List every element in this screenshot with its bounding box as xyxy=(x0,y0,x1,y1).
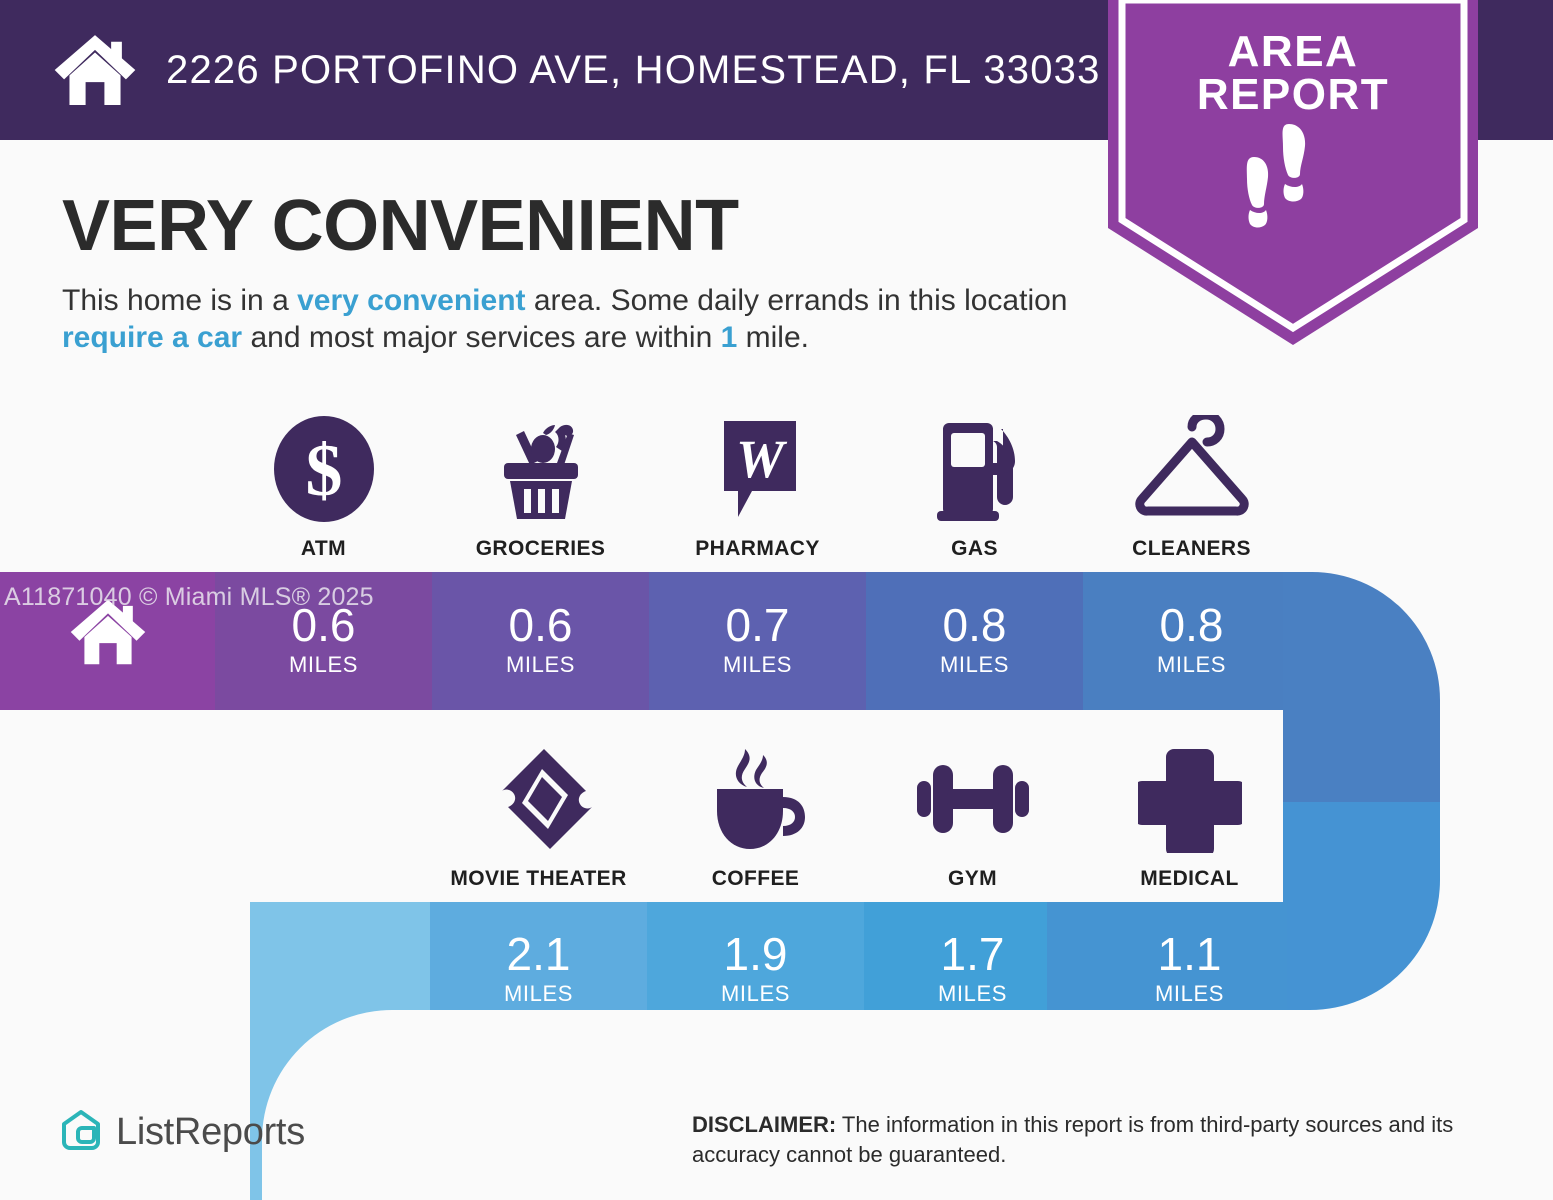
amenity-row-2: MOVIE THEATER COFFEE xyxy=(430,745,1298,891)
listreports-logo: ListReports xyxy=(58,1108,305,1156)
distance-cell: 2.1 MILES xyxy=(430,925,647,1007)
disclaimer: DISCLAIMER: The information in this repo… xyxy=(692,1110,1492,1169)
distance-value: 1.9 xyxy=(647,931,864,977)
distance-value: 0.6 xyxy=(432,602,649,648)
mls-watermark: A11871040 © Miami MLS® 2025 xyxy=(4,583,374,612)
distance-value: 1.1 xyxy=(1081,931,1298,977)
listreports-logo-icon xyxy=(58,1108,104,1156)
distance-cell: 0.8 MILES xyxy=(1083,596,1300,678)
amenity-label: COFFEE xyxy=(712,867,800,891)
distance-unit: MILES xyxy=(430,981,647,1007)
svg-text:W: W xyxy=(735,429,787,489)
amenity-row-1: $ ATM GROCERIES xyxy=(215,415,1300,561)
coffee-cup-icon xyxy=(701,745,811,853)
grocery-basket-icon xyxy=(486,415,596,523)
logo-text: ListReports xyxy=(116,1111,305,1154)
distance-unit: MILES xyxy=(866,652,1083,678)
distance-unit: MILES xyxy=(432,652,649,678)
distance-unit: MILES xyxy=(215,652,432,678)
distance-unit: MILES xyxy=(1081,981,1298,1007)
pharmacy-w-icon: W xyxy=(710,415,806,523)
amenity-atm: $ ATM xyxy=(215,415,432,561)
badge-label: AREA REPORT xyxy=(1108,30,1478,116)
amenity-coffee: COFFEE xyxy=(647,745,864,891)
distance-unit: MILES xyxy=(649,652,866,678)
amenity-pharmacy: W PHARMACY xyxy=(649,415,866,561)
clothes-hanger-icon xyxy=(1128,415,1256,523)
amenity-label: MOVIE THEATER xyxy=(450,867,626,891)
badge-line-2: REPORT xyxy=(1108,73,1478,116)
movie-ticket-icon xyxy=(486,745,592,853)
distance-unit: MILES xyxy=(1083,652,1300,678)
distance-cell: 0.7 MILES xyxy=(649,596,866,678)
distance-value: 2.1 xyxy=(430,931,647,977)
disclaimer-label: DISCLAIMER: xyxy=(692,1112,836,1137)
distance-cell: 1.7 MILES xyxy=(864,925,1081,1007)
distance-value: 1.7 xyxy=(864,931,1081,977)
amenity-label: ATM xyxy=(301,537,346,561)
dumbbell-icon xyxy=(909,745,1037,853)
amenity-groceries: GROCERIES xyxy=(432,415,649,561)
svg-text:$: $ xyxy=(305,430,342,512)
amenity-label: PHARMACY xyxy=(695,537,820,561)
area-report-badge: AREA REPORT xyxy=(1108,0,1478,345)
amenity-label: CLEANERS xyxy=(1132,537,1251,561)
distance-cell: 1.9 MILES xyxy=(647,925,864,1007)
distance-unit: MILES xyxy=(864,981,1081,1007)
medical-cross-icon xyxy=(1138,745,1242,853)
distance-unit: MILES xyxy=(647,981,864,1007)
distance-row-1: 0.6 MILES 0.6 MILES 0.7 MILES 0.8 MILES … xyxy=(215,596,1300,678)
distance-cell: 0.6 MILES xyxy=(432,596,649,678)
amenity-gym: GYM xyxy=(864,745,1081,891)
amenity-medical: MEDICAL xyxy=(1081,745,1298,891)
amenity-label: MEDICAL xyxy=(1140,867,1238,891)
distance-value: 0.7 xyxy=(649,602,866,648)
amenity-label: GROCERIES xyxy=(476,537,606,561)
distance-cell: 0.8 MILES xyxy=(866,596,1083,678)
gas-pump-icon xyxy=(923,415,1027,523)
atm-dollar-icon: $ xyxy=(272,415,376,523)
amenity-label: GAS xyxy=(951,537,998,561)
distance-cell: 1.1 MILES xyxy=(1081,925,1298,1007)
amenity-label: GYM xyxy=(948,867,997,891)
amenity-cleaners: CLEANERS xyxy=(1083,415,1300,561)
distance-row-2: 2.1 MILES 1.9 MILES 1.7 MILES 1.1 MILES xyxy=(430,925,1298,1007)
distance-value: 0.8 xyxy=(1083,602,1300,648)
distance-value: 0.8 xyxy=(866,602,1083,648)
amenity-gas: GAS xyxy=(866,415,1083,561)
amenity-movie-theater: MOVIE THEATER xyxy=(430,745,647,891)
badge-line-1: AREA xyxy=(1108,30,1478,73)
